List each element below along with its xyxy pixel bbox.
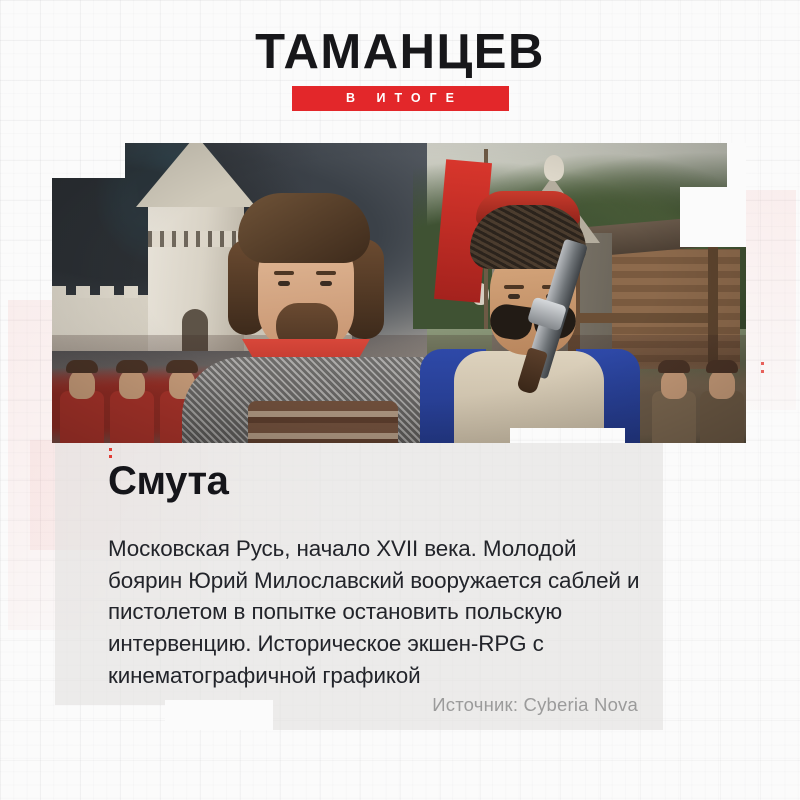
page-title: Смута bbox=[108, 460, 668, 503]
game-description: Московская Русь, начало XVII века. Молод… bbox=[108, 533, 653, 691]
brand-name: ТАМАНЦЕВ bbox=[0, 28, 800, 77]
card-content: Смута Московская Русь, начало XVII века.… bbox=[108, 460, 668, 691]
source-attribution: Источник: Cyberia Nova bbox=[108, 694, 638, 716]
accent-dots-icon bbox=[109, 448, 112, 462]
accent-tick-right-2 bbox=[761, 370, 764, 373]
brand-tagline-bar: В ИТОГЕ bbox=[292, 86, 509, 111]
hero-notch-top-right bbox=[680, 187, 746, 247]
hero-artwork bbox=[52, 143, 746, 443]
brand-tagline: В ИТОГЕ bbox=[337, 92, 463, 105]
poster-canvas: ТАМАНЦЕВ В ИТОГЕ bbox=[0, 0, 800, 800]
hero-vignette bbox=[52, 143, 746, 443]
hero-image bbox=[52, 143, 746, 443]
hero-notch-top-right-upper bbox=[727, 143, 746, 188]
brand-logo: ТАМАНЦЕВ В ИТОГЕ bbox=[0, 28, 800, 111]
accent-tick-right bbox=[761, 362, 764, 365]
